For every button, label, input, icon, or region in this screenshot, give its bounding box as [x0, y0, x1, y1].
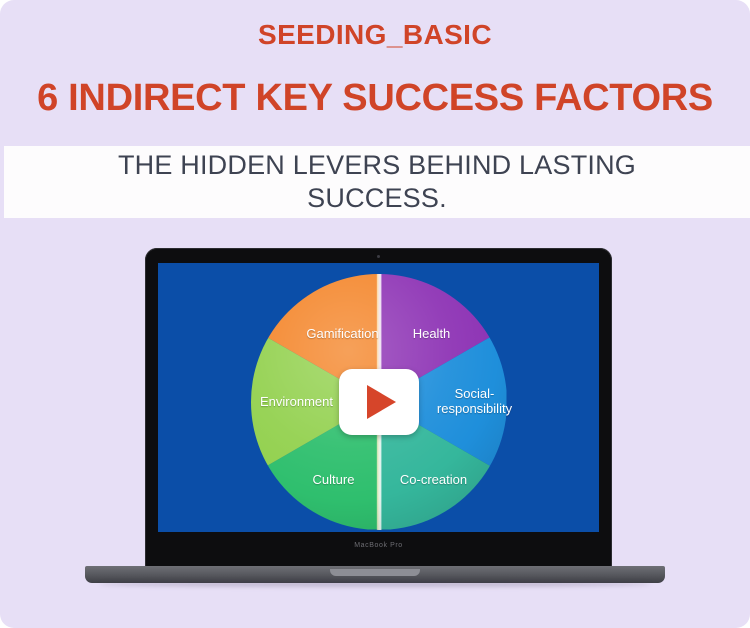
play-triangle-icon	[367, 385, 396, 419]
eyebrow-title: SEEDING_BASIC	[0, 19, 750, 51]
pie-label-social-line1: Social-	[455, 386, 495, 401]
pie-label-environment: Environment	[249, 394, 345, 409]
pie-label-co-creation: Co-creation	[391, 472, 477, 487]
laptop-lid: Health Social- responsibility Co-creatio…	[145, 248, 612, 569]
pie-label-health: Health	[401, 326, 463, 341]
laptop-base-notch	[330, 569, 420, 576]
laptop-shadow	[99, 581, 651, 587]
pie-label-gamification: Gamification	[293, 326, 393, 341]
header-block: SEEDING_BASIC 6 INDIRECT KEY SUCCESS FAC…	[0, 0, 750, 145]
play-button[interactable]	[339, 369, 419, 435]
webcam-icon	[377, 255, 380, 258]
pie-label-culture: Culture	[299, 472, 369, 487]
page-title: 6 INDIRECT KEY SUCCESS FACTORS	[0, 77, 750, 120]
device-model-label: MacBook Pro	[145, 542, 612, 549]
pie-label-social-line2: responsibility	[437, 401, 512, 416]
subtitle-text: THE HIDDEN LEVERS BEHIND LASTING SUCCESS…	[57, 149, 697, 215]
pie-label-social-responsibility: Social- responsibility	[436, 386, 514, 416]
pie-chart: Health Social- responsibility Co-creatio…	[251, 274, 507, 530]
subtitle-band: THE HIDDEN LEVERS BEHIND LASTING SUCCESS…	[4, 146, 750, 218]
laptop-screen: Health Social- responsibility Co-creatio…	[158, 263, 599, 532]
slide-canvas: SEEDING_BASIC 6 INDIRECT KEY SUCCESS FAC…	[0, 0, 750, 628]
laptop-mockup: Health Social- responsibility Co-creatio…	[85, 248, 665, 588]
